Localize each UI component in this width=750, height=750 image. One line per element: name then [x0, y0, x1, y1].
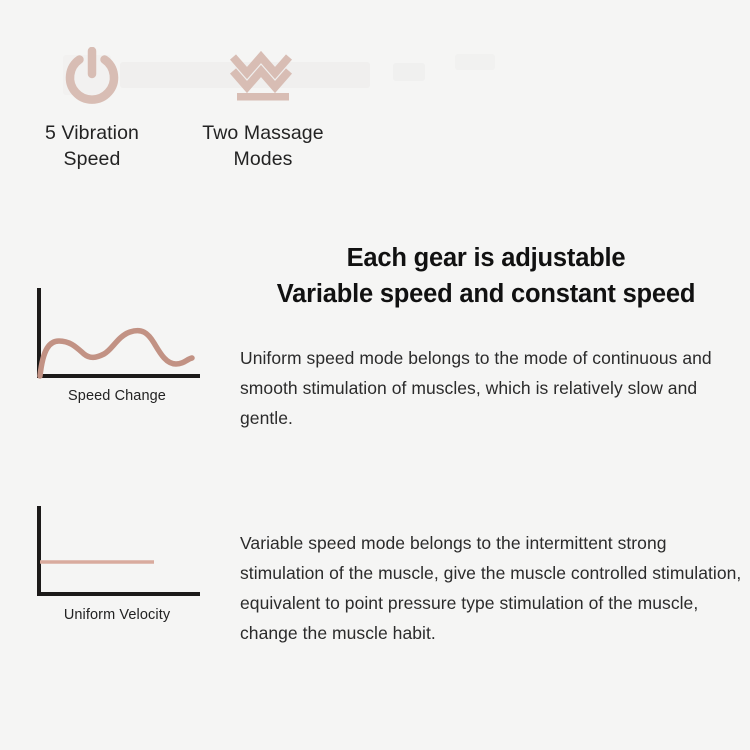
speed-change-plot	[32, 286, 204, 386]
feature-massage-modes: Two Massage Modes	[178, 46, 348, 172]
feature-vibration-speed-label: 5 Vibration Speed	[45, 120, 139, 172]
feature-label-line2: Speed	[64, 148, 121, 170]
feature-row: 5 Vibration Speed Two Massage Modes	[0, 46, 360, 172]
background-artifact	[393, 63, 425, 81]
massage-waves-icon	[227, 46, 299, 108]
headline-line-2: Variable speed and constant speed	[222, 276, 750, 312]
feature-vibration-speed: 5 Vibration Speed	[12, 46, 172, 172]
uniform-velocity-plot	[32, 504, 204, 604]
paragraph-variable-speed: Variable speed mode belongs to the inter…	[240, 528, 745, 648]
feature-label-line1: 5 Vibration	[45, 122, 139, 144]
chart-uniform-velocity-caption: Uniform Velocity	[32, 607, 202, 623]
chart-speed-change-caption: Speed Change	[32, 388, 202, 404]
feature-massage-modes-label: Two Massage Modes	[202, 120, 323, 172]
chart-speed-change: Speed Change	[32, 286, 204, 404]
power-button-icon	[59, 46, 125, 108]
paragraph-uniform-speed: Uniform speed mode belongs to the mode o…	[240, 343, 720, 433]
feature-label-line2: Modes	[233, 148, 292, 170]
feature-label-line1: Two Massage	[202, 122, 323, 144]
headline-line-1: Each gear is adjustable	[222, 240, 750, 276]
headline: Each gear is adjustable Variable speed a…	[222, 240, 750, 312]
chart-uniform-velocity: Uniform Velocity	[32, 504, 204, 623]
background-artifact	[455, 54, 495, 70]
